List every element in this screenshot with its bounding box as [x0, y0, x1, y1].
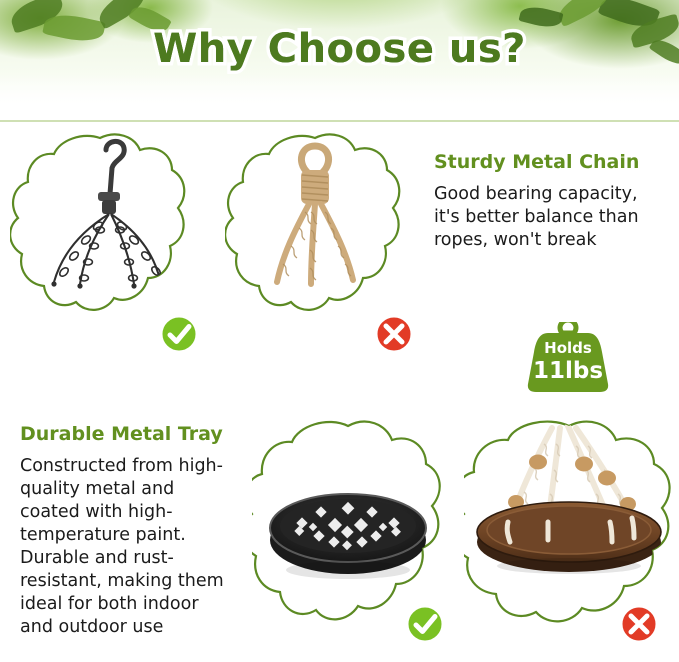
section-body-tray: Constructed from high-quality metal and … [20, 455, 225, 639]
section-body-chain: Good bearing capacity, it's better balan… [434, 183, 644, 252]
header-divider [0, 120, 679, 122]
weight-label: Holds [524, 339, 612, 357]
cross-circle-icon [373, 313, 415, 355]
check-circle-icon [404, 603, 446, 645]
header-banner: Why Choose us? Why Choose us? [0, 0, 679, 118]
page-title: Why Choose us? [0, 26, 679, 72]
weight-value: 11lbs [524, 358, 612, 384]
section-heading-chain: Sturdy Metal Chain [434, 151, 669, 173]
weight-badge: Holds 11lbs [524, 322, 612, 394]
rope-hanger-frame [225, 132, 405, 327]
check-circle-icon [158, 313, 200, 355]
metal-chain-frame [10, 132, 190, 327]
banner-fade [0, 74, 679, 118]
section-heading-tray: Durable Metal Tray [20, 423, 280, 445]
cross-circle-icon [618, 603, 660, 645]
